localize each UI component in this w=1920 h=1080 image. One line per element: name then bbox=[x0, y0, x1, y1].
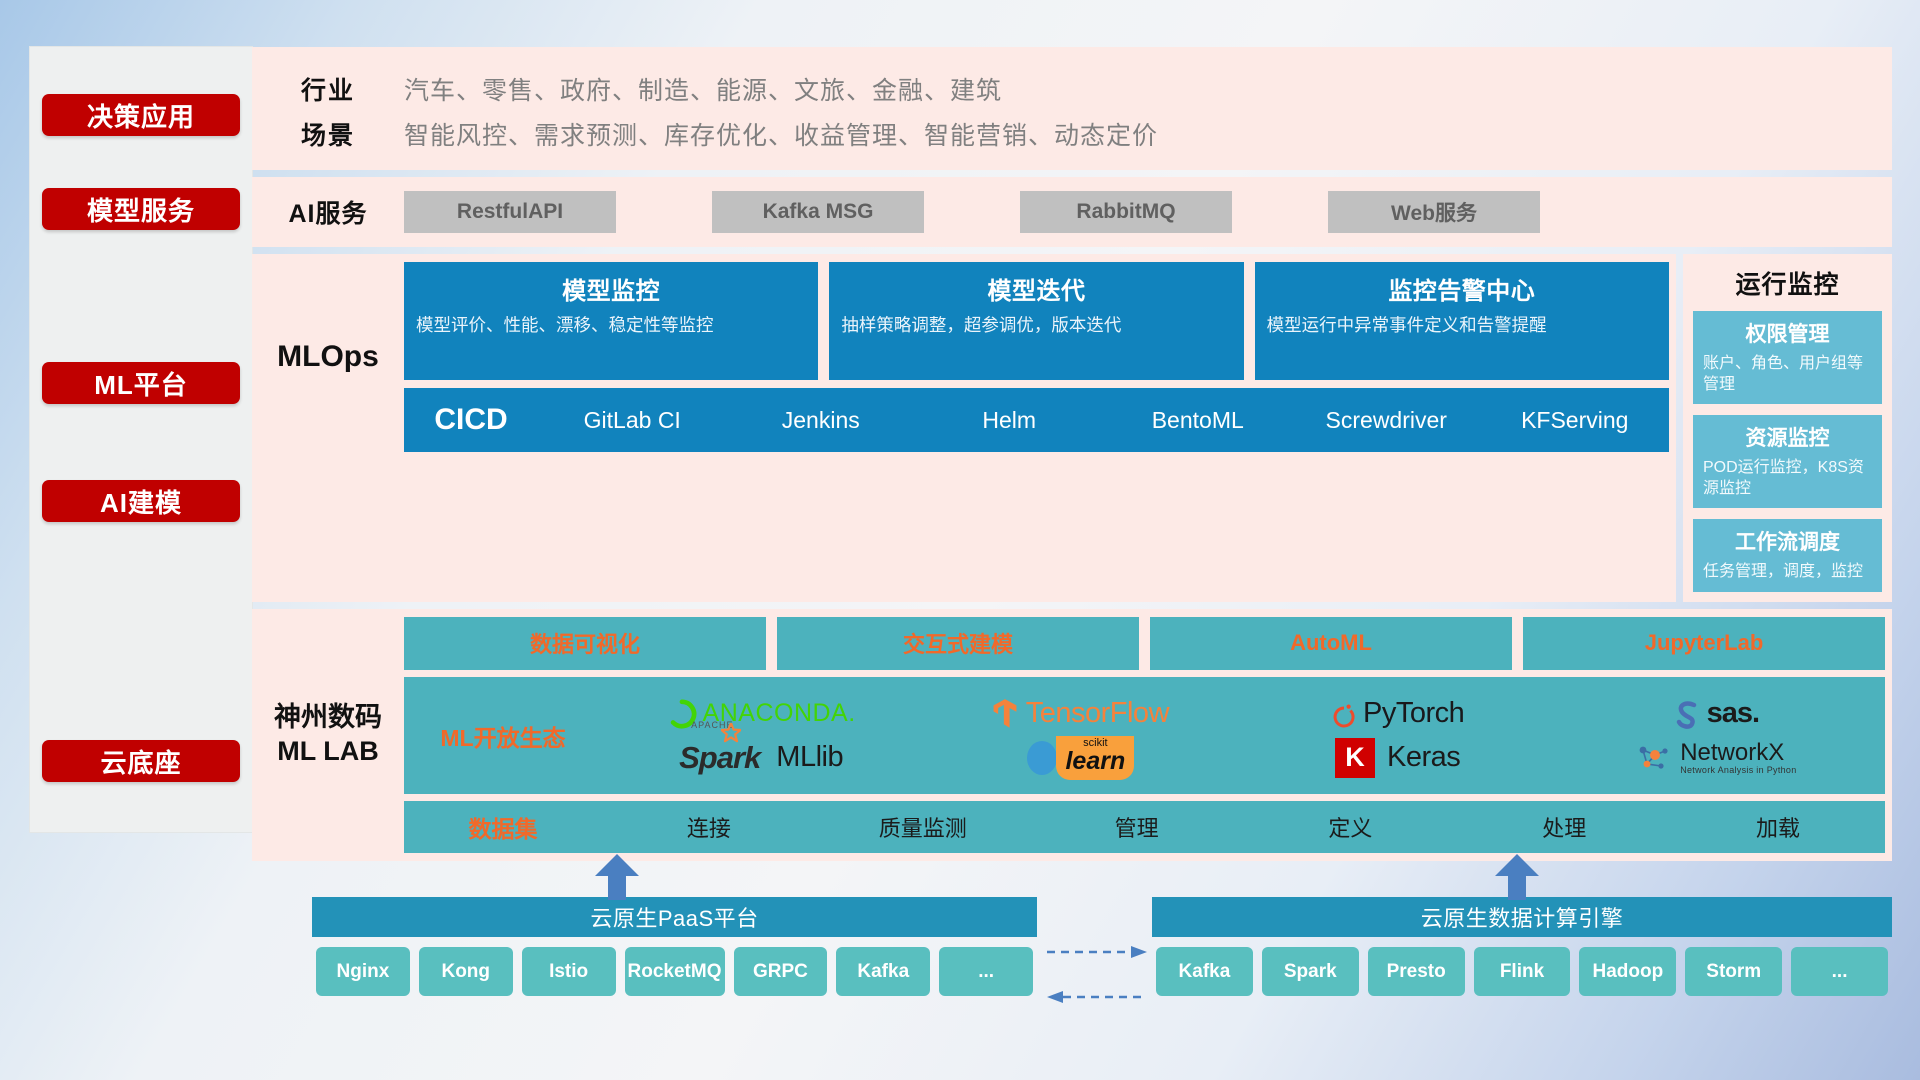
ml-open-ecosystem: ML开放生态 ANACONDA. TensorFlow bbox=[404, 677, 1885, 795]
chip-more-paas[interactable]: ... bbox=[939, 947, 1033, 996]
dataset-item-process[interactable]: 处理 bbox=[1457, 811, 1671, 843]
ai-service-label: AI服务 bbox=[252, 194, 404, 230]
card-desc: 任务管理，调度，监控 bbox=[1703, 561, 1872, 582]
card-desc: 抽样策略调整，超参调优，版本迭代 bbox=[841, 314, 1231, 337]
ai-service-buttons: RestfulAPI Kafka MSG RabbitMQ Web服务 bbox=[404, 191, 1540, 233]
card-title: 监控告警中心 bbox=[1267, 271, 1657, 306]
chip-kafka[interactable]: Kafka bbox=[836, 947, 930, 996]
cloud-paas-title: 云原生PaaS平台 bbox=[312, 897, 1037, 937]
cicd-item-jenkins[interactable]: Jenkins bbox=[727, 409, 916, 432]
rail-item-cloud-base[interactable]: 云底座 bbox=[42, 740, 240, 782]
industry-scenario-band: 行业 汽车、零售、政府、制造、能源、文旅、金融、建筑 场景 智能风控、需求预测、… bbox=[252, 47, 1892, 170]
rail-item-ml-platform[interactable]: ML平台 bbox=[42, 362, 240, 404]
pytorch-flame-icon bbox=[1331, 699, 1357, 729]
card-desc: 模型评价、性能、漂移、稳定性等监控 bbox=[416, 314, 806, 337]
industry-row: 行业 汽车、零售、政府、制造、能源、文旅、金融、建筑 bbox=[252, 66, 1892, 111]
monitor-card-workflow[interactable]: 工作流调度 任务管理，调度，监控 bbox=[1693, 519, 1882, 591]
chip-storm[interactable]: Storm bbox=[1685, 947, 1782, 996]
tensorflow-logo: TensorFlow bbox=[990, 697, 1169, 730]
tab-jupyterlab[interactable]: JupyterLab bbox=[1523, 617, 1885, 670]
chip-kafka-engine[interactable]: Kafka bbox=[1156, 947, 1253, 996]
rail-item-ai-modeling[interactable]: AI建模 bbox=[42, 480, 240, 522]
spark-star-icon bbox=[721, 723, 741, 743]
chip-flink[interactable]: Flink bbox=[1474, 947, 1571, 996]
mlops-card-model-monitoring[interactable]: 模型监控 模型评价、性能、漂移、稳定性等监控 bbox=[404, 262, 818, 380]
cloud-foundation-section: 云原生PaaS平台 Nginx Kong Istio RocketMQ GRPC… bbox=[252, 850, 1892, 1050]
ecosystem-logo-grid: ANACONDA. TensorFlow bbox=[602, 692, 1885, 780]
cicd-bar: CICD GitLab CI Jenkins Helm BentoML Scre… bbox=[404, 388, 1669, 452]
scikit-learn-logo: scikit learn bbox=[1024, 736, 1134, 780]
chip-rocketmq[interactable]: RocketMQ bbox=[625, 947, 725, 996]
tensorflow-mark-icon bbox=[990, 698, 1020, 730]
tab-interactive-modeling[interactable]: 交互式建模 bbox=[777, 617, 1139, 670]
cicd-item-screwdriver[interactable]: Screwdriver bbox=[1292, 409, 1481, 432]
rail-item-decision-app[interactable]: 决策应用 bbox=[42, 94, 240, 136]
cicd-label: CICD bbox=[404, 403, 538, 437]
ml-lab-band: 神州数码 ML LAB 数据可视化 交互式建模 AutoML JupyterLa… bbox=[252, 609, 1892, 861]
scikit-blue-blob-icon bbox=[1024, 739, 1060, 777]
chip-spark[interactable]: Spark bbox=[1262, 947, 1359, 996]
networkx-graph-icon bbox=[1635, 742, 1671, 774]
ml-lab-tabs: 数据可视化 交互式建模 AutoML JupyterLab bbox=[404, 617, 1885, 670]
mlops-card-model-iteration[interactable]: 模型迭代 抽样策略调整，超参调优，版本迭代 bbox=[829, 262, 1243, 380]
dataset-bar: 数据集 连接 质量监测 管理 定义 处理 加载 bbox=[404, 801, 1885, 852]
ml-open-ecosystem-label: ML开放生态 bbox=[404, 719, 602, 753]
pytorch-wordmark: PyTorch bbox=[1363, 697, 1464, 730]
monitor-card-resource[interactable]: 资源监控 POD运行监控，K8S资源监控 bbox=[1693, 415, 1882, 508]
dataset-item-connect[interactable]: 连接 bbox=[602, 811, 816, 843]
dashed-arrow-right-icon bbox=[1047, 945, 1147, 959]
industry-label: 行业 bbox=[252, 71, 404, 107]
industry-value: 汽车、零售、政府、制造、能源、文旅、金融、建筑 bbox=[404, 71, 1002, 107]
chip-nginx[interactable]: Nginx bbox=[316, 947, 410, 996]
cloud-engine-title: 云原生数据计算引擎 bbox=[1152, 897, 1892, 937]
ml-lab-label-line1: 神州数码 bbox=[274, 701, 382, 734]
learn-text: learn bbox=[1065, 749, 1125, 774]
mlops-card-alert-center[interactable]: 监控告警中心 模型运行中异常事件定义和告警提醒 bbox=[1255, 262, 1669, 380]
card-title: 工作流调度 bbox=[1703, 526, 1872, 556]
ml-lab-label: 神州数码 ML LAB bbox=[252, 617, 404, 853]
card-title: 权限管理 bbox=[1703, 318, 1872, 348]
spark-wordmark: Spark bbox=[679, 740, 760, 775]
tab-data-visualization[interactable]: 数据可视化 bbox=[404, 617, 766, 670]
spark-mllib-logo: APACHE Spark MLlib bbox=[679, 740, 843, 776]
scenario-value: 智能风控、需求预测、库存优化、收益管理、智能营销、动态定价 bbox=[404, 116, 1158, 152]
chip-kong[interactable]: Kong bbox=[419, 947, 513, 996]
card-title: 资源监控 bbox=[1703, 422, 1872, 452]
up-arrow-icon bbox=[592, 854, 642, 900]
up-arrow-icon bbox=[1492, 854, 1542, 900]
keras-mark-icon: K bbox=[1335, 738, 1375, 778]
cicd-item-gitlab-ci[interactable]: GitLab CI bbox=[538, 409, 727, 432]
ai-service-web[interactable]: Web服务 bbox=[1328, 191, 1540, 233]
monitor-card-permission[interactable]: 权限管理 账户、角色、用户组等管理 bbox=[1693, 311, 1882, 404]
ai-service-kafka-msg[interactable]: Kafka MSG bbox=[712, 191, 924, 233]
architecture-stack: 行业 汽车、零售、政府、制造、能源、文旅、金融、建筑 场景 智能风控、需求预测、… bbox=[252, 47, 1892, 861]
runtime-monitor-title: 运行监控 bbox=[1693, 265, 1882, 301]
runtime-monitor-band: 运行监控 权限管理 账户、角色、用户组等管理 资源监控 POD运行监控，K8S资… bbox=[1683, 254, 1892, 602]
dataset-item-manage[interactable]: 管理 bbox=[1030, 811, 1244, 843]
chip-presto[interactable]: Presto bbox=[1368, 947, 1465, 996]
mlops-monitor-row: MLOps 模型监控 模型评价、性能、漂移、稳定性等监控 模型迭代 抽样策略调整… bbox=[252, 254, 1892, 602]
cicd-item-bentoml[interactable]: BentoML bbox=[1104, 409, 1293, 432]
networkx-wordmark: NetworkX bbox=[1680, 741, 1796, 765]
dashed-arrow-left-icon bbox=[1047, 990, 1147, 1004]
ai-service-rabbitmq[interactable]: RabbitMQ bbox=[1020, 191, 1232, 233]
tab-automl[interactable]: AutoML bbox=[1150, 617, 1512, 670]
cloud-paas-group: 云原生PaaS平台 Nginx Kong Istio RocketMQ GRPC… bbox=[312, 897, 1037, 996]
card-title: 模型迭代 bbox=[841, 271, 1231, 306]
sas-wordmark: sas. bbox=[1707, 697, 1759, 730]
chip-istio[interactable]: Istio bbox=[522, 947, 616, 996]
chip-more-engine[interactable]: ... bbox=[1791, 947, 1888, 996]
sas-mark-icon bbox=[1673, 699, 1701, 729]
networkx-tagline: Network Analysis in Python bbox=[1680, 765, 1796, 775]
dataset-item-define[interactable]: 定义 bbox=[1243, 811, 1457, 843]
scenario-label: 场景 bbox=[252, 116, 404, 152]
keras-wordmark: Keras bbox=[1387, 741, 1460, 774]
mllib-wordmark: MLlib bbox=[776, 741, 843, 774]
cicd-item-helm[interactable]: Helm bbox=[915, 409, 1104, 432]
cloud-engine-group: 云原生数据计算引擎 Kafka Spark Presto Flink Hadoo… bbox=[1152, 897, 1892, 996]
mlops-label: MLOps bbox=[252, 262, 404, 452]
ai-service-restfulapi[interactable]: RestfulAPI bbox=[404, 191, 616, 233]
ai-service-band: AI服务 RestfulAPI Kafka MSG RabbitMQ Web服务 bbox=[252, 177, 1892, 247]
mlops-cards: 模型监控 模型评价、性能、漂移、稳定性等监控 模型迭代 抽样策略调整，超参调优，… bbox=[404, 262, 1669, 380]
card-desc: 模型运行中异常事件定义和告警提醒 bbox=[1267, 314, 1657, 337]
sas-logo: sas. bbox=[1673, 697, 1759, 730]
ml-lab-label-line2: ML LAB bbox=[277, 735, 379, 768]
mlops-band: MLOps 模型监控 模型评价、性能、漂移、稳定性等监控 模型迭代 抽样策略调整… bbox=[252, 254, 1676, 602]
stage-rail: 决策应用 模型服务 ML平台 AI建模 云底座 bbox=[30, 47, 252, 832]
chip-hadoop[interactable]: Hadoop bbox=[1579, 947, 1676, 996]
cloud-engine-chips: Kafka Spark Presto Flink Hadoop Storm ..… bbox=[1152, 937, 1892, 996]
dataset-item-quality-monitor[interactable]: 质量监测 bbox=[816, 811, 1030, 843]
cloud-paas-chips: Nginx Kong Istio RocketMQ GRPC Kafka ... bbox=[312, 937, 1037, 996]
tensorflow-wordmark: TensorFlow bbox=[1026, 697, 1169, 730]
dataset-item-load[interactable]: 加载 bbox=[1671, 811, 1885, 843]
card-desc: 账户、角色、用户组等管理 bbox=[1703, 353, 1872, 395]
card-title: 模型监控 bbox=[416, 271, 806, 306]
dataset-label: 数据集 bbox=[404, 810, 602, 844]
keras-logo: K Keras bbox=[1335, 738, 1460, 778]
chip-grpc[interactable]: GRPC bbox=[734, 947, 828, 996]
card-desc: POD运行监控，K8S资源监控 bbox=[1703, 457, 1872, 499]
networkx-logo: NetworkX Network Analysis in Python bbox=[1635, 741, 1796, 775]
scenario-row: 场景 智能风控、需求预测、库存优化、收益管理、智能营销、动态定价 bbox=[252, 111, 1892, 156]
rail-item-model-service[interactable]: 模型服务 bbox=[42, 188, 240, 230]
cicd-item-kfserving[interactable]: KFServing bbox=[1481, 409, 1670, 432]
pytorch-logo: PyTorch bbox=[1331, 697, 1464, 730]
